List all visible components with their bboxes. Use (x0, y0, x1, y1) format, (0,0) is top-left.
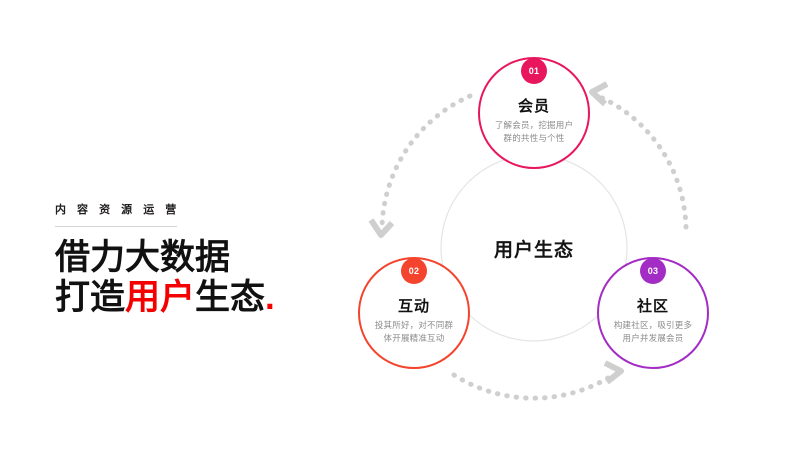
slide-canvas: 内 容 资 源 运 营 借力大数据 打造用户生态. 用户生态 01 会员 了 (0, 0, 800, 450)
node-03-title: 社区 (599, 295, 707, 316)
node-02-desc-line-1: 投其所好，对不同群 (375, 320, 453, 330)
arrow-path-01-to-02 (382, 96, 470, 227)
node-03-description: 构建社区，吸引更多 用户并发展会员 (605, 319, 701, 345)
node-03-desc-line-2: 用户并发展会员 (623, 333, 684, 343)
node-02-badge: 02 (401, 258, 427, 284)
headline-line-1: 借力大数据 (55, 238, 345, 278)
diagram-node-01[interactable]: 01 会员 了解会员，挖掘用户 群的共性与个性 (478, 57, 590, 169)
node-01-description: 了解会员，挖掘用户 群的共性与个性 (486, 119, 582, 145)
center-label: 用户生态 (455, 235, 613, 262)
node-01-desc-line-1: 了解会员，挖掘用户 (495, 120, 573, 130)
arrow-path-02-to-03 (454, 375, 613, 398)
eyebrow-divider (55, 226, 177, 227)
headline-block: 内 容 资 源 运 营 借力大数据 打造用户生态. (55, 203, 345, 318)
node-01-badge: 01 (521, 58, 547, 84)
arrow-head-02-to-03 (605, 363, 621, 382)
headline-line-2-suffix: 生态 (195, 278, 265, 317)
user-ecosystem-diagram: 用户生态 01 会员 了解会员，挖掘用户 群的共性与个性 02 互动 投其所好，… (330, 20, 780, 430)
node-02-description: 投其所好，对不同群 体开展精准互动 (366, 319, 462, 345)
headline-line-2-accent: 用户 (125, 278, 195, 317)
headline-line-2-prefix: 打造 (55, 278, 125, 317)
arrow-path-03-to-01 (598, 96, 686, 227)
arrow-head-03-to-01 (592, 84, 607, 104)
node-02-title: 互动 (360, 295, 468, 316)
eyebrow-label: 内 容 资 源 运 营 (55, 203, 345, 217)
node-03-desc-line-1: 构建社区，吸引更多 (614, 320, 692, 330)
headline-line-2: 打造用户生态. (55, 278, 345, 318)
node-01-title: 会员 (480, 95, 588, 116)
node-02-desc-line-2: 体开展精准互动 (384, 333, 445, 343)
node-03-badge: 03 (640, 258, 666, 284)
node-01-desc-line-2: 群的共性与个性 (504, 133, 565, 143)
diagram-node-03[interactable]: 03 社区 构建社区，吸引更多 用户并发展会员 (597, 257, 709, 369)
diagram-node-02[interactable]: 02 互动 投其所好，对不同群 体开展精准互动 (358, 257, 470, 369)
headline-period: . (265, 278, 275, 317)
